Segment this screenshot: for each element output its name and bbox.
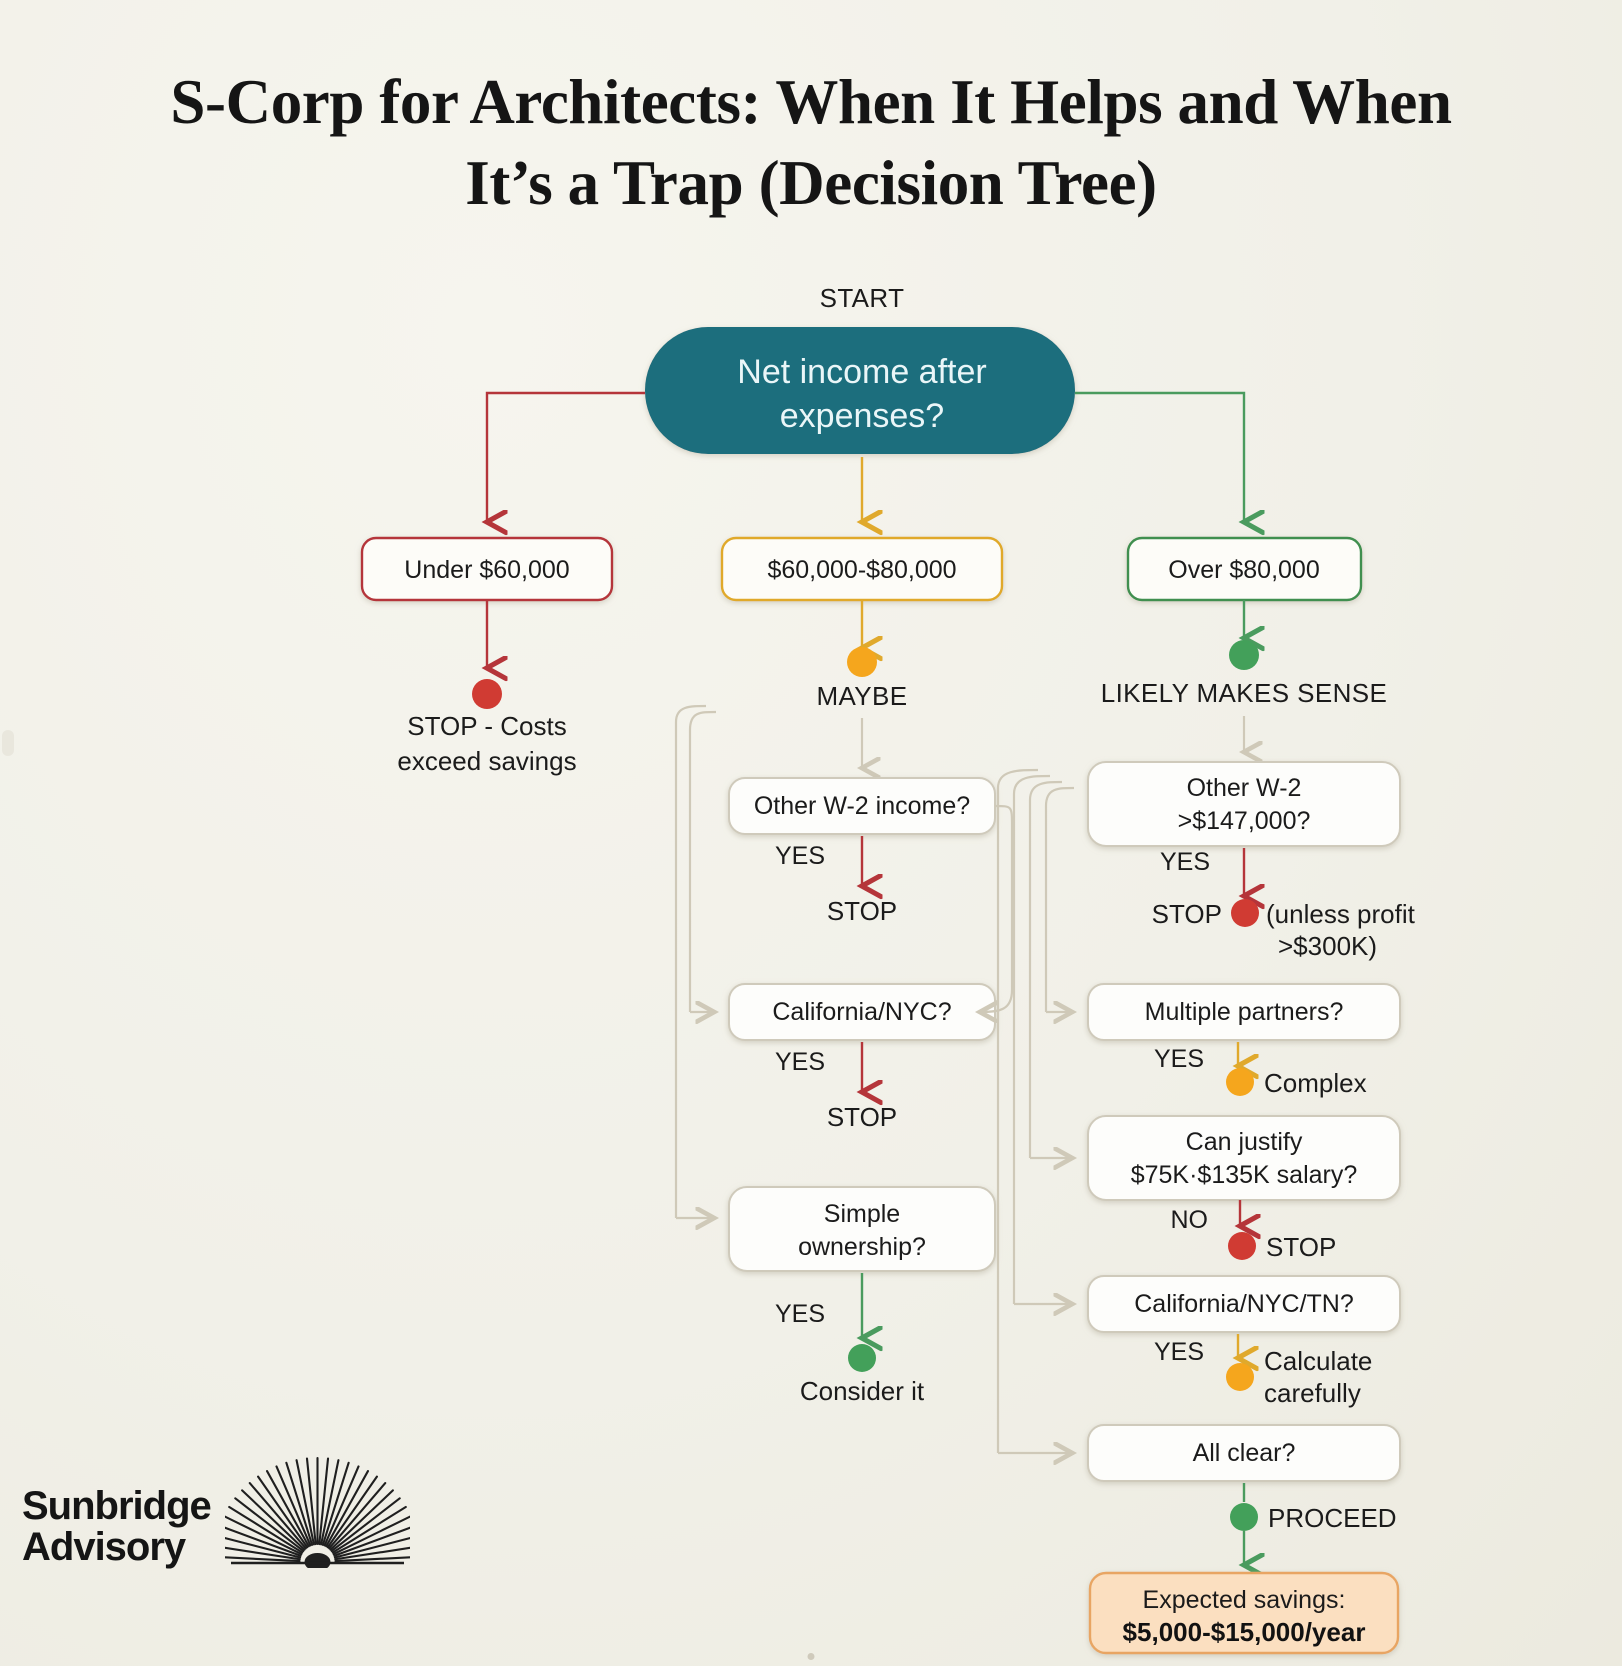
green-status-dot-proceed	[1230, 1503, 1258, 1531]
node-label-can-justify-line2: $75K·$135K salary?	[1131, 1161, 1358, 1189]
terminal-salary-stop: STOP	[1266, 1232, 1336, 1262]
start-label-line2: expenses?	[780, 397, 944, 435]
brand-logo: Sunbridge Advisory	[22, 1450, 410, 1568]
edge-start-to-over80k	[1075, 393, 1244, 522]
red-status-dot-right	[1231, 899, 1259, 927]
amber-status-dot-right	[1226, 1068, 1254, 1096]
note-unless-profit-line2: >$300K)	[1278, 931, 1377, 961]
node-label-other-w2-income: Other W-2 income?	[754, 792, 970, 820]
terminal-stop-costs-line2: exceed savings	[397, 746, 576, 776]
red-status-dot	[472, 679, 502, 709]
bottom-page-dot	[808, 1653, 815, 1660]
edge-label-high-w2-yes: YES	[1160, 848, 1210, 876]
terminal-calculate-line1: Calculate	[1264, 1346, 1372, 1376]
edge-label-mid-ca-yes: YES	[775, 1048, 825, 1076]
node-label-california-nyc: California/NYC?	[772, 998, 951, 1026]
amber-status-dot	[847, 647, 877, 677]
edge-label-partners-yes: YES	[1154, 1045, 1204, 1073]
terminal-mid-w2-stop: STOP	[827, 896, 897, 926]
connector-mid-spine-1	[690, 712, 716, 1012]
start-caption: START	[820, 283, 905, 313]
brand-line-1: Sunbridge	[22, 1486, 211, 1527]
edge-label-salary-no: NO	[1171, 1206, 1209, 1234]
expected-savings-line2: $5,000-$15,000/year	[1123, 1617, 1366, 1647]
connector-high-spine-4	[998, 770, 1038, 1453]
branch-label-under-60k: Under $60,000	[404, 556, 569, 584]
decision-tree-diagram: START Net income after expenses? Under $…	[0, 0, 1622, 1666]
terminal-calculate-line2: carefully	[1264, 1378, 1361, 1408]
node-label-other-w2-147k-line2: >$147,000?	[1178, 807, 1311, 835]
expected-savings-line1: Expected savings:	[1143, 1586, 1346, 1614]
edge-label-mid-simple-yes: YES	[775, 1300, 825, 1328]
node-label-can-justify-line1: Can justify	[1186, 1128, 1303, 1156]
node-label-simple-ownership-line1: Simple	[824, 1200, 900, 1228]
connector-mid-w2-to-ca	[980, 806, 1012, 1012]
branch-label-over-80k: Over $80,000	[1168, 556, 1320, 584]
edge-label-mid-w2-yes: YES	[775, 842, 825, 870]
green-status-dot	[848, 1344, 876, 1372]
edge-start-to-under60k	[487, 393, 645, 522]
brand-logo-text: Sunbridge Advisory	[22, 1486, 211, 1568]
brand-line-2: Advisory	[22, 1527, 211, 1568]
node-label-simple-ownership-line2: ownership?	[798, 1233, 926, 1261]
node-label-multiple-partners: Multiple partners?	[1145, 998, 1344, 1026]
terminal-consider-it: Consider it	[800, 1376, 925, 1406]
verdict-maybe: MAYBE	[816, 681, 907, 711]
terminal-high-w2-stop: STOP	[1152, 899, 1222, 929]
terminal-stop-costs-line1: STOP - Costs	[407, 711, 566, 741]
branch-label-mid: $60,000-$80,000	[767, 556, 956, 584]
red-status-dot-salary	[1228, 1232, 1256, 1260]
node-label-all-clear: All clear?	[1193, 1439, 1296, 1467]
amber-status-dot-catn	[1226, 1363, 1254, 1391]
verdict-likely-makes-sense: LIKELY MAKES SENSE	[1101, 678, 1388, 708]
terminal-mid-ca-stop: STOP	[827, 1102, 897, 1132]
terminal-proceed: PROCEED	[1268, 1503, 1397, 1533]
sunburst-icon	[225, 1450, 410, 1568]
node-label-california-nyc-tn: California/NYC/TN?	[1134, 1290, 1354, 1318]
edge-label-catn-yes: YES	[1154, 1338, 1204, 1366]
green-status-dot-right	[1229, 640, 1259, 670]
note-unless-profit-line1: (unless profit	[1266, 899, 1416, 929]
terminal-complex: Complex	[1264, 1068, 1367, 1098]
connector-high-spine-3	[1014, 776, 1050, 1304]
connector-high-spine-1	[1046, 788, 1074, 1012]
start-label-line1: Net income after	[737, 353, 986, 391]
node-label-other-w2-147k-line1: Other W-2	[1187, 774, 1302, 802]
